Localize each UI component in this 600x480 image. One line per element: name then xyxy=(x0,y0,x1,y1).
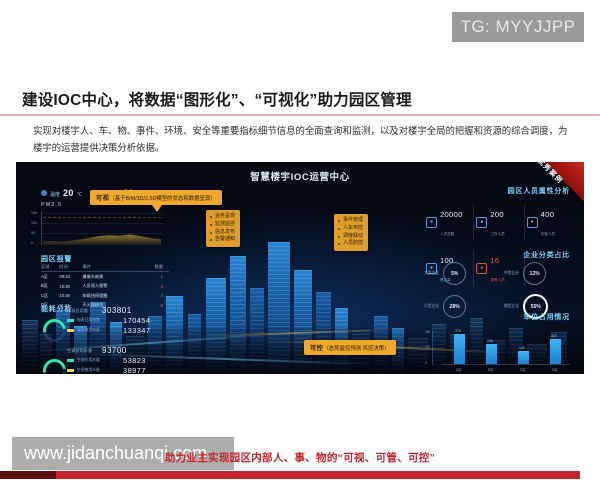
menu-item[interactable]: 事件管理 xyxy=(343,217,363,225)
energy-item-value: 53823 xyxy=(123,356,146,365)
parking-cat-a: A区 xyxy=(456,367,462,372)
legend-swatch-night xyxy=(67,329,74,332)
telegram-watermark: TG: MYYJJPP xyxy=(452,12,584,42)
alarm-event: 人员闯入报警 xyxy=(82,282,137,291)
stat-value: 200 xyxy=(490,210,504,219)
parking-value-c: 165 xyxy=(519,346,525,350)
parking-section-title: 车位占用情况 xyxy=(523,312,570,322)
dashboard-title: 智慧楼宇IOC运营中心 xyxy=(16,169,584,183)
alarm-time: 10:45 xyxy=(59,291,82,300)
parking-cat-c: C区 xyxy=(520,367,526,372)
pm25-tick-3: 0 xyxy=(31,241,33,245)
temperature-label: 温度 xyxy=(50,191,60,198)
alarm-col-time: 时间 xyxy=(59,262,82,272)
energy-item-value: 133347 xyxy=(123,326,150,335)
parking-bar-a[interactable] xyxy=(454,334,465,364)
enterprise-value: 5% xyxy=(443,262,466,285)
parking-ytick-1: 200 xyxy=(425,345,430,349)
parking-bar-c[interactable] xyxy=(518,351,529,364)
alarm-count: 2 xyxy=(137,291,169,300)
energy-donut-water xyxy=(38,354,70,374)
callout-visual[interactable]: 可视（基于BIM/3D/2.5D模型的状态和数据呈现） xyxy=(90,190,222,205)
enterprise-item-large[interactable]: 大型企业 5% xyxy=(424,262,496,285)
energy-group-water: 空调总用水量 93700 空调日用水量 53823 空调夜用水量 38977 xyxy=(41,356,181,374)
alarm-table-header: 区域 时间 事件 数量 xyxy=(41,262,169,272)
personnel-section-title: 园区人员属性分析 xyxy=(508,186,570,196)
parking-cat-b: B区 xyxy=(488,367,494,372)
energy-group-electricity: 电表总用量 303801 电表日用电量 170454 电表夜用电量 133347 xyxy=(41,316,181,342)
parking-bar-b[interactable] xyxy=(486,344,497,364)
table-row[interactable]: A区 09:23 摄像头故障 1 xyxy=(41,272,169,282)
enterprise-label: 大型企业 xyxy=(424,271,439,276)
legend-swatch-day xyxy=(67,359,74,362)
pm25-area-series xyxy=(43,229,161,245)
energy-item-value: 38977 xyxy=(123,366,146,374)
worker-icon: ● xyxy=(476,217,487,228)
energy-item-label: 空调夜用水量 xyxy=(77,368,100,373)
energy-item-value: 170454 xyxy=(123,316,150,325)
stat-label: 访客人员 xyxy=(541,232,555,236)
slide-description: 实现对楼宇人、车、物、事件、环境、安全等重要指标细节信息的全面查询和监测，以及对… xyxy=(33,122,571,157)
menu-item[interactable]: 人车布控 xyxy=(343,225,363,233)
page-title: 建设IOC中心，将数据“图形化”、“可视化”助力园区管理 xyxy=(22,88,412,110)
energy-donut-electricity xyxy=(38,314,70,346)
menu-box-primary[interactable]: 业务呈现 监测监控 信息发布 告警通知 xyxy=(206,210,240,247)
ioc-dashboard: 智慧楼宇IOC运营中心 优秀案例 温度 20 ℃ 湿度 89 % PM2.5 xyxy=(16,162,584,374)
pm25-tick-0: 150 xyxy=(31,211,37,215)
slide: 建设IOC中心，将数据“图形化”、“可视化”助力园区管理 实现对楼宇人、车、物、… xyxy=(0,72,600,402)
enterprise-item-medium[interactable]: 中型企业 12% xyxy=(504,262,576,285)
alarm-time: 09:23 xyxy=(59,272,82,282)
menu-item[interactable]: 告警通知 xyxy=(215,236,235,244)
legend-swatch-night xyxy=(67,369,74,372)
parking-cat-d: D区 xyxy=(552,367,558,372)
alarm-col-count: 数量 xyxy=(137,262,169,272)
energy-group-total: 93700 xyxy=(102,346,127,355)
stat-label: 人员总数 xyxy=(440,232,454,236)
alarm-table: 区域 时间 事件 数量 A区 09:23 摄像头故障 1 B区 xyxy=(41,262,169,310)
enterprise-item-small[interactable]: 小型企业 28% xyxy=(424,294,496,319)
callout-control-tag: 可控 xyxy=(310,345,323,352)
temperature-unit: ℃ xyxy=(77,192,83,198)
parking-value-d: 318 xyxy=(551,334,557,338)
menu-item[interactable]: 业务呈现 xyxy=(215,213,235,221)
thermometer-icon xyxy=(41,190,47,196)
energy-group-title: 空调总用水量 xyxy=(67,348,92,354)
alarm-count: 8 xyxy=(137,300,169,309)
parking-value-b: 248 xyxy=(487,339,493,343)
menu-item[interactable]: 监测监控 xyxy=(215,221,235,229)
parking-value-a: 376 xyxy=(455,329,461,333)
callout-visual-tag: 可视 xyxy=(96,195,109,202)
table-row[interactable]: B区 10:45 人员闯入报警 3 xyxy=(41,282,169,291)
alarm-count: 3 xyxy=(137,282,169,291)
footer-red-bar xyxy=(0,471,580,479)
menu-item[interactable]: 人员防控 xyxy=(343,240,363,248)
visitor-icon: ● xyxy=(527,217,538,228)
pm25-tick-2: 50 xyxy=(31,231,35,235)
parking-ytick-2: 0 xyxy=(425,361,427,365)
stat-total-people[interactable]: ● 20000 人员总数 xyxy=(424,204,474,240)
person-search-icon: ● xyxy=(426,217,437,228)
alarm-area: B区 xyxy=(41,282,59,291)
energy-item-label: 空调日用水量 xyxy=(77,358,100,363)
stat-staff[interactable]: ● 200 工作人员 xyxy=(474,204,524,240)
pm25-tick-1: 100 xyxy=(31,221,37,225)
pm25-chart-title: PM2.5 xyxy=(41,202,62,208)
alarm-count: 1 xyxy=(137,272,169,282)
stat-value: 20000 xyxy=(440,210,463,219)
parking-bar-d[interactable] xyxy=(550,339,561,364)
alarm-area: A区 xyxy=(41,272,59,282)
alarm-col-event: 事件 xyxy=(82,262,137,272)
parking-ytick-0: 400 xyxy=(425,330,430,334)
energy-item-label: 电表日用电量 xyxy=(77,318,100,323)
enterprise-label: 小型企业 xyxy=(424,304,439,309)
energy-group-total: 303801 xyxy=(102,306,132,315)
pm25-area-chart: 150 100 50 0 xyxy=(41,211,163,245)
stat-visitors[interactable]: ● 400 访客人员 xyxy=(525,204,574,240)
menu-box-secondary[interactable]: 事件管理 人车布控 调度联动 人员防控 xyxy=(334,214,368,251)
energy-analysis: 电表总用量 303801 电表日用电量 170454 电表夜用电量 133347… xyxy=(41,312,181,374)
callout-control[interactable]: 可控（态势监控预测 风控决策） xyxy=(304,340,396,355)
enterprise-section-title: 企业分类占比 xyxy=(523,250,570,260)
enterprise-value: 28% xyxy=(443,295,466,318)
alarm-event: 摄像头故障 xyxy=(82,272,137,282)
enterprise-label: 微型企业 xyxy=(504,304,519,309)
alarm-area: C区 xyxy=(41,291,59,300)
legend-swatch-day xyxy=(67,319,74,322)
energy-item-label: 电表夜用电量 xyxy=(77,328,100,333)
callout-visual-text: （基于BIM/3D/2.5D模型的状态和数据呈现） xyxy=(109,196,215,202)
footer-red-bar-cap xyxy=(0,471,56,479)
slide-footer-text: 助力业主实现园区内部人、事、物的“可视、可管、可控” xyxy=(0,450,600,465)
callout-control-text: （态势监控预测 风控决策） xyxy=(323,346,389,352)
stat-value: 400 xyxy=(541,210,555,219)
alarm-time: 10:45 xyxy=(59,282,82,291)
parking-bar-chart: 400 200 0 376 A区 248 B区 165 C区 318 D区 xyxy=(432,330,572,368)
temperature-value: 20 xyxy=(63,188,74,198)
table-row[interactable]: C区 10:45 车辆违停提醒 2 xyxy=(41,291,169,300)
enterprise-label: 中型企业 xyxy=(504,271,519,276)
alarm-col-area: 区域 xyxy=(41,262,59,272)
alarm-event: 车辆违停提醒 xyxy=(82,291,137,300)
stat-label: 工作人员 xyxy=(490,232,504,236)
title-divider xyxy=(0,114,600,116)
energy-group-title: 电表总用量 xyxy=(67,308,88,314)
temperature-readout: 温度 20 ℃ xyxy=(41,188,82,198)
enterprise-value: 12% xyxy=(523,262,546,285)
